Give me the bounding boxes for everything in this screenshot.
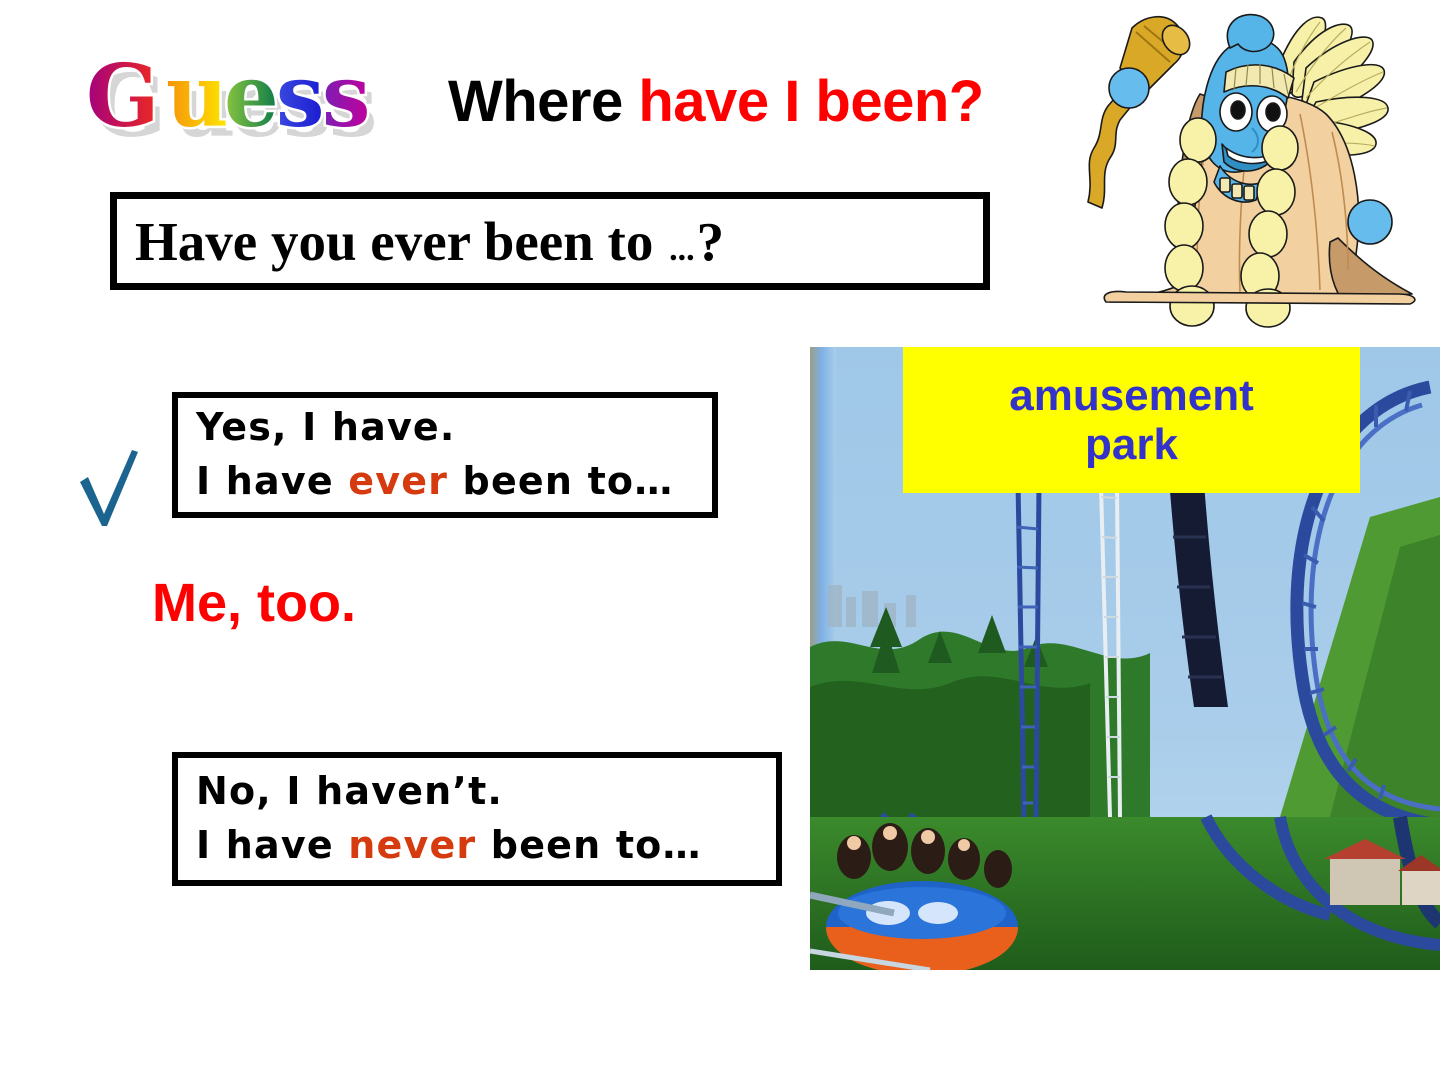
guess-wordart: G u e s s G u e s s G u e s s [84,52,424,148]
answer-yes-keyword: ever [348,459,448,503]
answer-negative-box: No, I haven’t. I have never been to… [172,752,782,886]
answer-yes-line2-after: been to… [448,459,673,503]
me-too-text: Me, too. [152,572,356,634]
answer-no-keyword: never [348,823,476,867]
question-ellipsis: ... [667,231,697,268]
photo-caption-label: amusement park [903,347,1360,493]
tribal-chief-cartoon [1080,2,1440,332]
question-box: Have you ever been to ...? [110,192,990,290]
answer-no-line2-before: I have [196,823,348,867]
answer-no-line2-after: been to… [476,823,701,867]
slide-canvas: G u e s s G u e s s G u e s s [0,0,1440,1080]
answer-yes-line1: Yes, I have. [178,401,712,455]
svg-text:u: u [166,52,229,147]
photo-caption-line1: amusement [1009,371,1254,420]
question-text-before: Have you ever been to [135,211,667,272]
photo-caption-line2: park [1085,420,1178,469]
svg-text:s: s [322,52,370,147]
check-mark-icon [78,448,144,528]
answer-affirmative-box: Yes, I have. I have ever been to… [172,392,718,518]
answer-yes-line2: I have ever been to… [178,455,712,509]
question-text-after: ? [697,211,725,272]
page-title: Where have I been? [448,68,984,135]
page-title-highlight: have I been? [638,69,983,134]
svg-text:e: e [224,52,279,147]
question-text: Have you ever been to ...? [117,210,724,273]
page-title-plain: Where [448,69,638,134]
answer-yes-line2-before: I have [196,459,348,503]
answer-no-line1: No, I haven’t. [178,765,776,819]
answer-no-line2: I have never been to… [178,819,776,873]
svg-text:G: G [86,52,159,147]
svg-text:s: s [276,52,324,147]
